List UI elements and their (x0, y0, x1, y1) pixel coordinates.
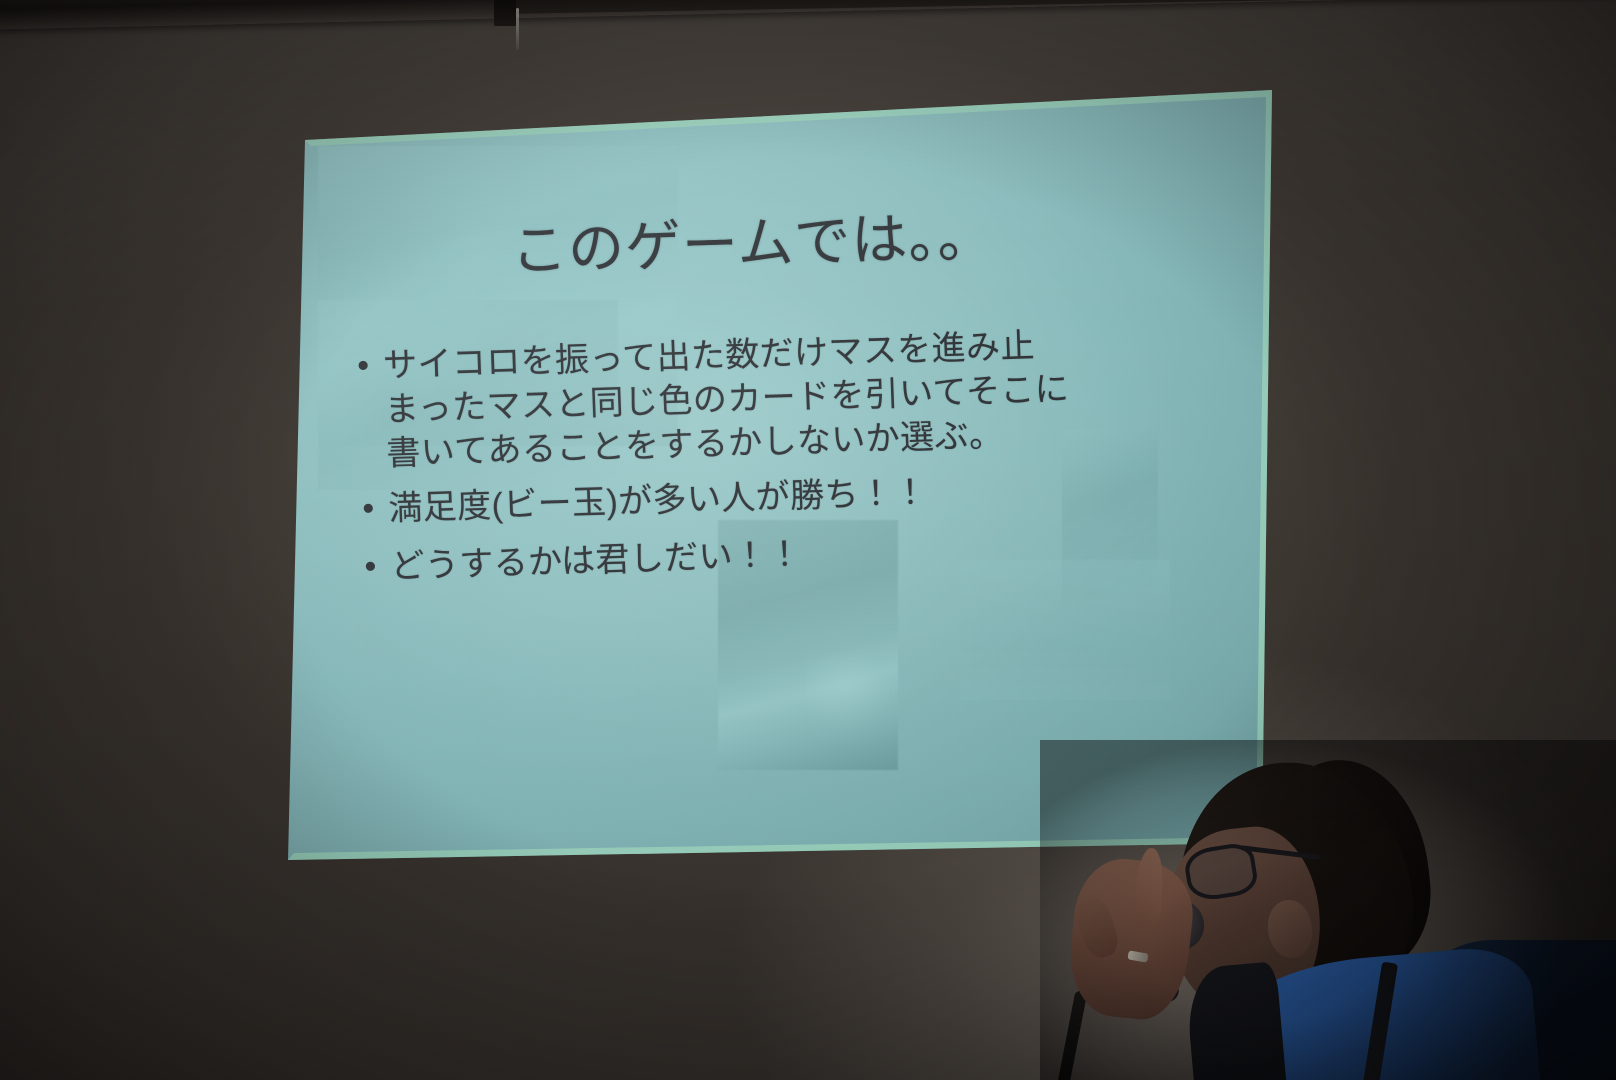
pipe-bracket (494, 0, 516, 26)
slide-photo-right-papers (960, 560, 1170, 700)
hanging-cord (516, 8, 519, 50)
projected-slide-photo: このゲームでは。。 • サイコロを振って出た数だけマスを進み止 まったマスと同じ… (0, 0, 1616, 1080)
slide-photo-left-table (318, 300, 618, 490)
slide-photo-center-hat (806, 600, 926, 750)
